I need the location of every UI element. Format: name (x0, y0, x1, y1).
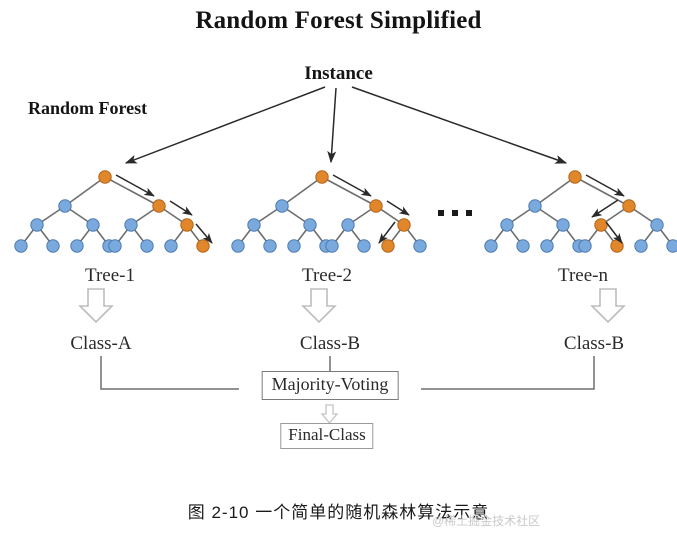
tree-2-leaf-3 (288, 240, 300, 252)
final-class-box: Final-Class (280, 423, 373, 449)
tree-1-edges (21, 177, 203, 246)
tree-2-leaf-8 (414, 240, 426, 252)
tree-n-leaf-1 (485, 240, 497, 252)
tree-1-leaf-6 (141, 240, 153, 252)
tree-2-graphic (232, 171, 426, 252)
majority-voting-box: Majority-Voting (262, 371, 399, 400)
tree-2-leaf-6 (358, 240, 370, 252)
class-b-treen-to-voting-connector (421, 356, 594, 389)
tree-n-leaf-5 (579, 240, 591, 252)
tree-1-nodes (15, 171, 209, 252)
tree-n-leaf-8 (667, 240, 677, 252)
tree-n-class-output: Class-B (564, 334, 624, 353)
tree-2-node-rl (342, 219, 354, 231)
tree-2-node-root (316, 171, 328, 183)
tree-n-leaf-7 (635, 240, 647, 252)
tree-1-leaf-1 (15, 240, 27, 252)
final-class-arrow (322, 405, 337, 423)
tree-n-node-rr (651, 219, 663, 231)
tree-2-to-class-arrow (303, 289, 335, 322)
tree-1-label: Tree-1 (85, 266, 135, 285)
tree-1-leaf-3 (71, 240, 83, 252)
tree-2-class-output: Class-B (300, 334, 360, 353)
tree-1-node-lr (87, 219, 99, 231)
instance-distribution-arrows (126, 87, 566, 163)
tree-2-node-lr (304, 219, 316, 231)
tree-n-node-lr (557, 219, 569, 231)
tree-1-leaf-5 (109, 240, 121, 252)
tree-1-leaf-2 (47, 240, 59, 252)
class-a-to-voting-connector (101, 356, 239, 389)
tree-1-node-rl (125, 219, 137, 231)
random-forest-figure: Random Forest Simplified Instance Random… (0, 0, 677, 541)
tree-n-node-right (623, 200, 635, 212)
tree-1-leaf-8 (197, 240, 209, 252)
tree-2-label: Tree-2 (302, 266, 352, 285)
tree-1-node-ll (31, 219, 43, 231)
tree-2-leaf-7 (382, 240, 394, 252)
tree-1-graphic (15, 171, 212, 252)
tree-2-node-rr (398, 219, 410, 231)
instance-to-tree-n-arrow (352, 87, 566, 163)
tree-2-node-ll (248, 219, 260, 231)
tree-n-node-root (569, 171, 581, 183)
tree-n-node-ll (501, 219, 513, 231)
tree-n-label: Tree-n (558, 266, 608, 285)
voting-to-final-block-arrow (322, 405, 337, 423)
tree-n-to-class-arrow (592, 289, 624, 322)
tree-n-leaf-3 (541, 240, 553, 252)
tree-2-node-right (370, 200, 382, 212)
tree-1-node-right (153, 200, 165, 212)
ellipsis-dots (438, 210, 472, 216)
tree-2-leaf-1 (232, 240, 244, 252)
tree-n-node-left (529, 200, 541, 212)
tree-1-node-left (59, 200, 71, 212)
tree-to-class-block-arrows (80, 289, 624, 322)
tree-2-edges (238, 177, 420, 246)
tree-n-graphic (485, 171, 677, 252)
tree-1-node-rr (181, 219, 193, 231)
figure-caption: 图 2-10 一个简单的随机森林算法示意 (0, 504, 677, 521)
site-watermark: @稀土掘金技术社区 (432, 512, 540, 529)
tree-2-node-left (276, 200, 288, 212)
tree-n-edges (491, 177, 673, 246)
tree-2-nodes (232, 171, 426, 252)
tree-n-node-rl (595, 219, 607, 231)
tree-1-to-class-arrow (80, 289, 112, 322)
tree-1-node-root (99, 171, 111, 183)
tree-1-class-output: Class-A (70, 334, 131, 353)
tree-n-leaf-2 (517, 240, 529, 252)
tree-1-leaf-7 (165, 240, 177, 252)
instance-to-tree-1-arrow (126, 87, 325, 163)
instance-to-tree-2-arrow (331, 88, 336, 162)
tree-n-nodes (485, 171, 677, 252)
tree-2-leaf-5 (326, 240, 338, 252)
tree-2-leaf-2 (264, 240, 276, 252)
